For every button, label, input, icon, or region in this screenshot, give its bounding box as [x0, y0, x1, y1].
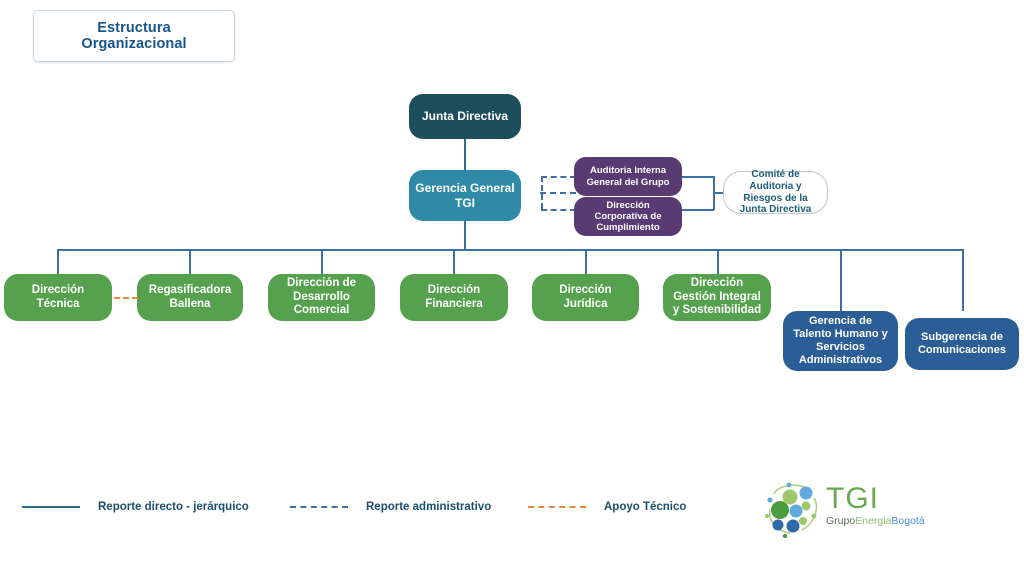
- legend-item-reporte-administrativo: Reporte administrativo: [290, 501, 491, 513]
- node-junta-directiva-label: Junta Directiva: [422, 109, 508, 123]
- legend-label-apoyo-tecnico: Apoyo Técnico: [604, 501, 686, 513]
- node-direccion-gestion-integral-sostenibilidad[interactable]: Dirección Gestión Integral y Sostenibili…: [663, 274, 771, 321]
- tgi-logo-text: TGI GrupoEnergiaBogotá: [826, 484, 925, 527]
- tgi-wordmark: TGI: [826, 484, 925, 514]
- node-regasificadora-ballena-label: Regasificadora Ballena: [143, 284, 237, 311]
- node-direccion-financiera[interactable]: Dirección Financiera: [400, 274, 508, 321]
- node-regasificadora-ballena[interactable]: Regasificadora Ballena: [137, 274, 243, 321]
- tgi-logo: TGI GrupoEnergiaBogotá: [762, 478, 937, 540]
- node-comite-auditoria-riesgos-label: Comité de Auditoria y Riesgos de la Junt…: [730, 169, 821, 216]
- page-title-line2: Organizacional: [81, 36, 186, 52]
- node-gerencia-general-tgi-label: Gerencia General TGI: [415, 181, 515, 209]
- tgi-logo-mark-icon: [762, 480, 824, 538]
- connector-drop-talento: [840, 249, 842, 311]
- node-direccion-tecnica-label: Dirección Técnica: [10, 284, 106, 311]
- legend-item-reporte-directo: Reporte directo - jerárquico: [22, 501, 249, 513]
- node-subgerencia-comunicaciones[interactable]: Subgerencia de Comunicaciones: [905, 318, 1019, 370]
- org-chart-canvas: Estructura Organizacional Junta Directiv…: [0, 0, 1024, 562]
- tgi-sublogo: GrupoEnergiaBogotá: [826, 516, 925, 527]
- connector-purple-riser: [541, 176, 543, 209]
- node-auditoria-interna[interactable]: Auditoria Interna General del Grupo: [574, 157, 682, 196]
- connector-junta-to-gerencia: [464, 138, 466, 171]
- connector-main-bus: [57, 249, 963, 251]
- node-direccion-financiera-label: Dirección Financiera: [406, 284, 502, 311]
- connector-cumplimiento-to-comite: [681, 209, 714, 211]
- node-direccion-corporativa-cumplimiento[interactable]: Dirección Corporativa de Cumplimiento: [574, 197, 682, 236]
- connector-drop-juridica: [585, 249, 587, 274]
- node-direccion-tecnica[interactable]: Dirección Técnica: [4, 274, 112, 321]
- node-direccion-juridica-label: Dirección Jurídica: [538, 284, 633, 311]
- node-gerencia-talento-humano-label: Gerencia de Talento Humano y Servicios A…: [789, 315, 892, 367]
- legend-swatch-solid-line-icon: [22, 506, 80, 508]
- legend-swatch-dashed-blue-line-icon: [290, 506, 348, 508]
- node-direccion-desarrollo-comercial[interactable]: Dirección de Desarrollo Comercial: [268, 274, 375, 321]
- node-direccion-desarrollo-comercial-label: Dirección de Desarrollo Comercial: [274, 277, 369, 318]
- legend-item-apoyo-tecnico: Apoyo Técnico: [528, 501, 686, 513]
- connector-gerencia-to-purple: [540, 192, 576, 194]
- node-direccion-gestion-integral-sostenibilidad-label: Dirección Gestión Integral y Sostenibili…: [669, 277, 765, 318]
- connector-auditoria-to-comite: [681, 176, 714, 178]
- connector-drop-regasificadora: [189, 249, 191, 274]
- node-auditoria-interna-label: Auditoria Interna General del Grupo: [580, 165, 676, 187]
- node-gerencia-general-tgi[interactable]: Gerencia General TGI: [409, 170, 521, 221]
- tgi-sublogo-bogota: Bogotá: [891, 515, 924, 527]
- connector-gerencia-to-bus: [464, 220, 466, 250]
- node-direccion-juridica[interactable]: Dirección Jurídica: [532, 274, 639, 321]
- tgi-sublogo-energia: Energia: [855, 515, 891, 527]
- node-direccion-corporativa-cumplimiento-label: Dirección Corporativa de Cumplimiento: [580, 200, 676, 234]
- connector-purple-to-cumplimiento: [541, 209, 576, 211]
- page-title: Estructura Organizacional: [33, 10, 235, 62]
- node-gerencia-talento-humano[interactable]: Gerencia de Talento Humano y Servicios A…: [783, 311, 898, 371]
- page-title-line1: Estructura: [97, 20, 171, 36]
- node-subgerencia-comunicaciones-label: Subgerencia de Comunicaciones: [911, 331, 1013, 357]
- connector-drop-financiera: [453, 249, 455, 274]
- connector-purple-to-auditoria: [541, 176, 576, 178]
- legend-label-reporte-administrativo: Reporte administrativo: [366, 501, 491, 513]
- tgi-sublogo-grupo: Grupo: [826, 515, 855, 527]
- connector-drop-sostenibilidad: [717, 249, 719, 274]
- node-comite-auditoria-riesgos[interactable]: Comité de Auditoria y Riesgos de la Junt…: [723, 171, 828, 214]
- connector-drop-comunicaciones: [962, 249, 964, 311]
- connector-drop-tecnica: [57, 249, 59, 274]
- legend-swatch-dashed-orange-line-icon: [528, 506, 586, 508]
- connector-apoyo-tecnico: [114, 297, 138, 299]
- node-junta-directiva[interactable]: Junta Directiva: [409, 94, 521, 139]
- connector-drop-comercial: [321, 249, 323, 274]
- legend-label-reporte-directo: Reporte directo - jerárquico: [98, 501, 249, 513]
- page-title-text: Estructura Organizacional: [81, 20, 186, 52]
